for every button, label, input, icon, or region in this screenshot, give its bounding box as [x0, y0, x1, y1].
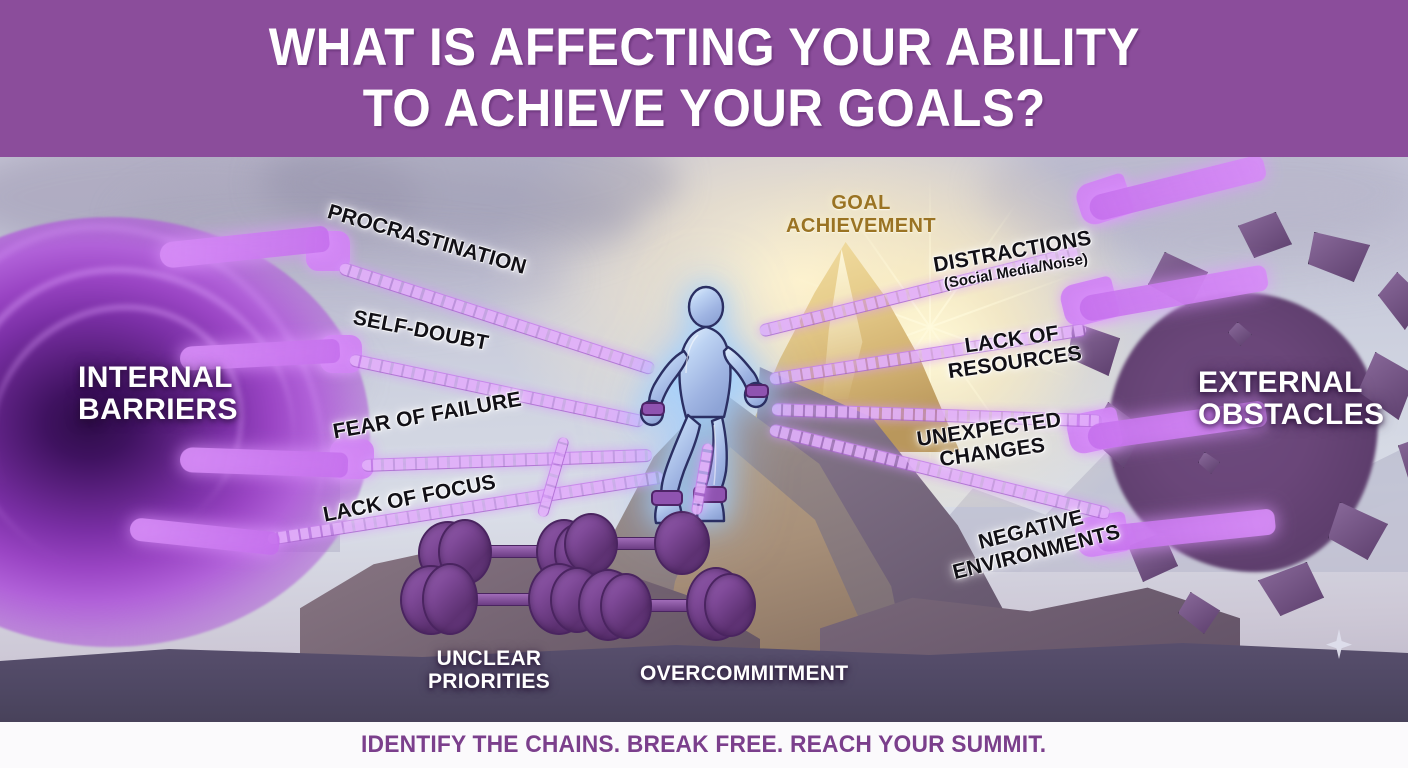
- external-obstacles-line-2: OBSTACLES: [1198, 398, 1384, 431]
- obstacle-shard: [1398, 432, 1408, 484]
- weight-plate: [654, 511, 710, 575]
- obstacle-shard: [1238, 212, 1292, 258]
- obstacle-shard: [1308, 232, 1370, 282]
- weight-plate: [600, 573, 652, 639]
- weight-cluster: [396, 507, 756, 667]
- infographic-page: WHAT IS AFFECTING YOUR ABILITY TO ACHIEV…: [0, 0, 1408, 768]
- chain-fear-of-failure: [362, 449, 652, 472]
- footer-tagline: IDENTIFY THE CHAINS. BREAK FREE. REACH Y…: [361, 731, 1046, 759]
- external-obstacles-heading: EXTERNAL OBSTACLES: [1198, 367, 1384, 432]
- chained-climber-figure: [628, 285, 788, 545]
- illustration-scene: INTERNAL BARRIERS EXTERNAL OBSTACLES GOA…: [0, 157, 1408, 722]
- internal-barriers-heading: INTERNAL BARRIERS: [78, 362, 238, 427]
- internal-barriers-line-1: INTERNAL: [78, 361, 233, 394]
- obstacle-shard: [1378, 272, 1408, 330]
- label-overcommitment-text: OVERCOMMITMENT: [640, 662, 848, 685]
- internal-barriers-line-2: BARRIERS: [78, 393, 238, 426]
- footer-banner: IDENTIFY THE CHAINS. BREAK FREE. REACH Y…: [0, 722, 1408, 768]
- label-unclear-priorities-line-2: PRIORITIES: [428, 670, 550, 693]
- goal-achievement-label: GOAL ACHIEVEMENT: [746, 192, 976, 238]
- external-obstacles-line-1: EXTERNAL: [1198, 366, 1363, 399]
- obstacle-shard: [1178, 592, 1220, 634]
- page-title-line-2: TO ACHIEVE YOUR GOALS?: [362, 82, 1045, 136]
- label-overcommitment: OVERCOMMITMENT: [640, 662, 848, 685]
- header-banner: WHAT IS AFFECTING YOUR ABILITY TO ACHIEV…: [0, 0, 1408, 157]
- label-unclear-priorities: UNCLEAR PRIORITIES: [428, 647, 550, 693]
- weight-plate: [704, 573, 756, 637]
- goal-label-line-2: ACHIEVEMENT: [786, 215, 936, 237]
- weight-plate: [422, 563, 478, 635]
- chain-weight-tether-left: [537, 436, 570, 518]
- goal-label-line-1: GOAL: [831, 192, 890, 214]
- label-unclear-priorities-line-1: UNCLEAR: [437, 647, 542, 670]
- page-title-line-1: WHAT IS AFFECTING YOUR ABILITY: [268, 21, 1139, 75]
